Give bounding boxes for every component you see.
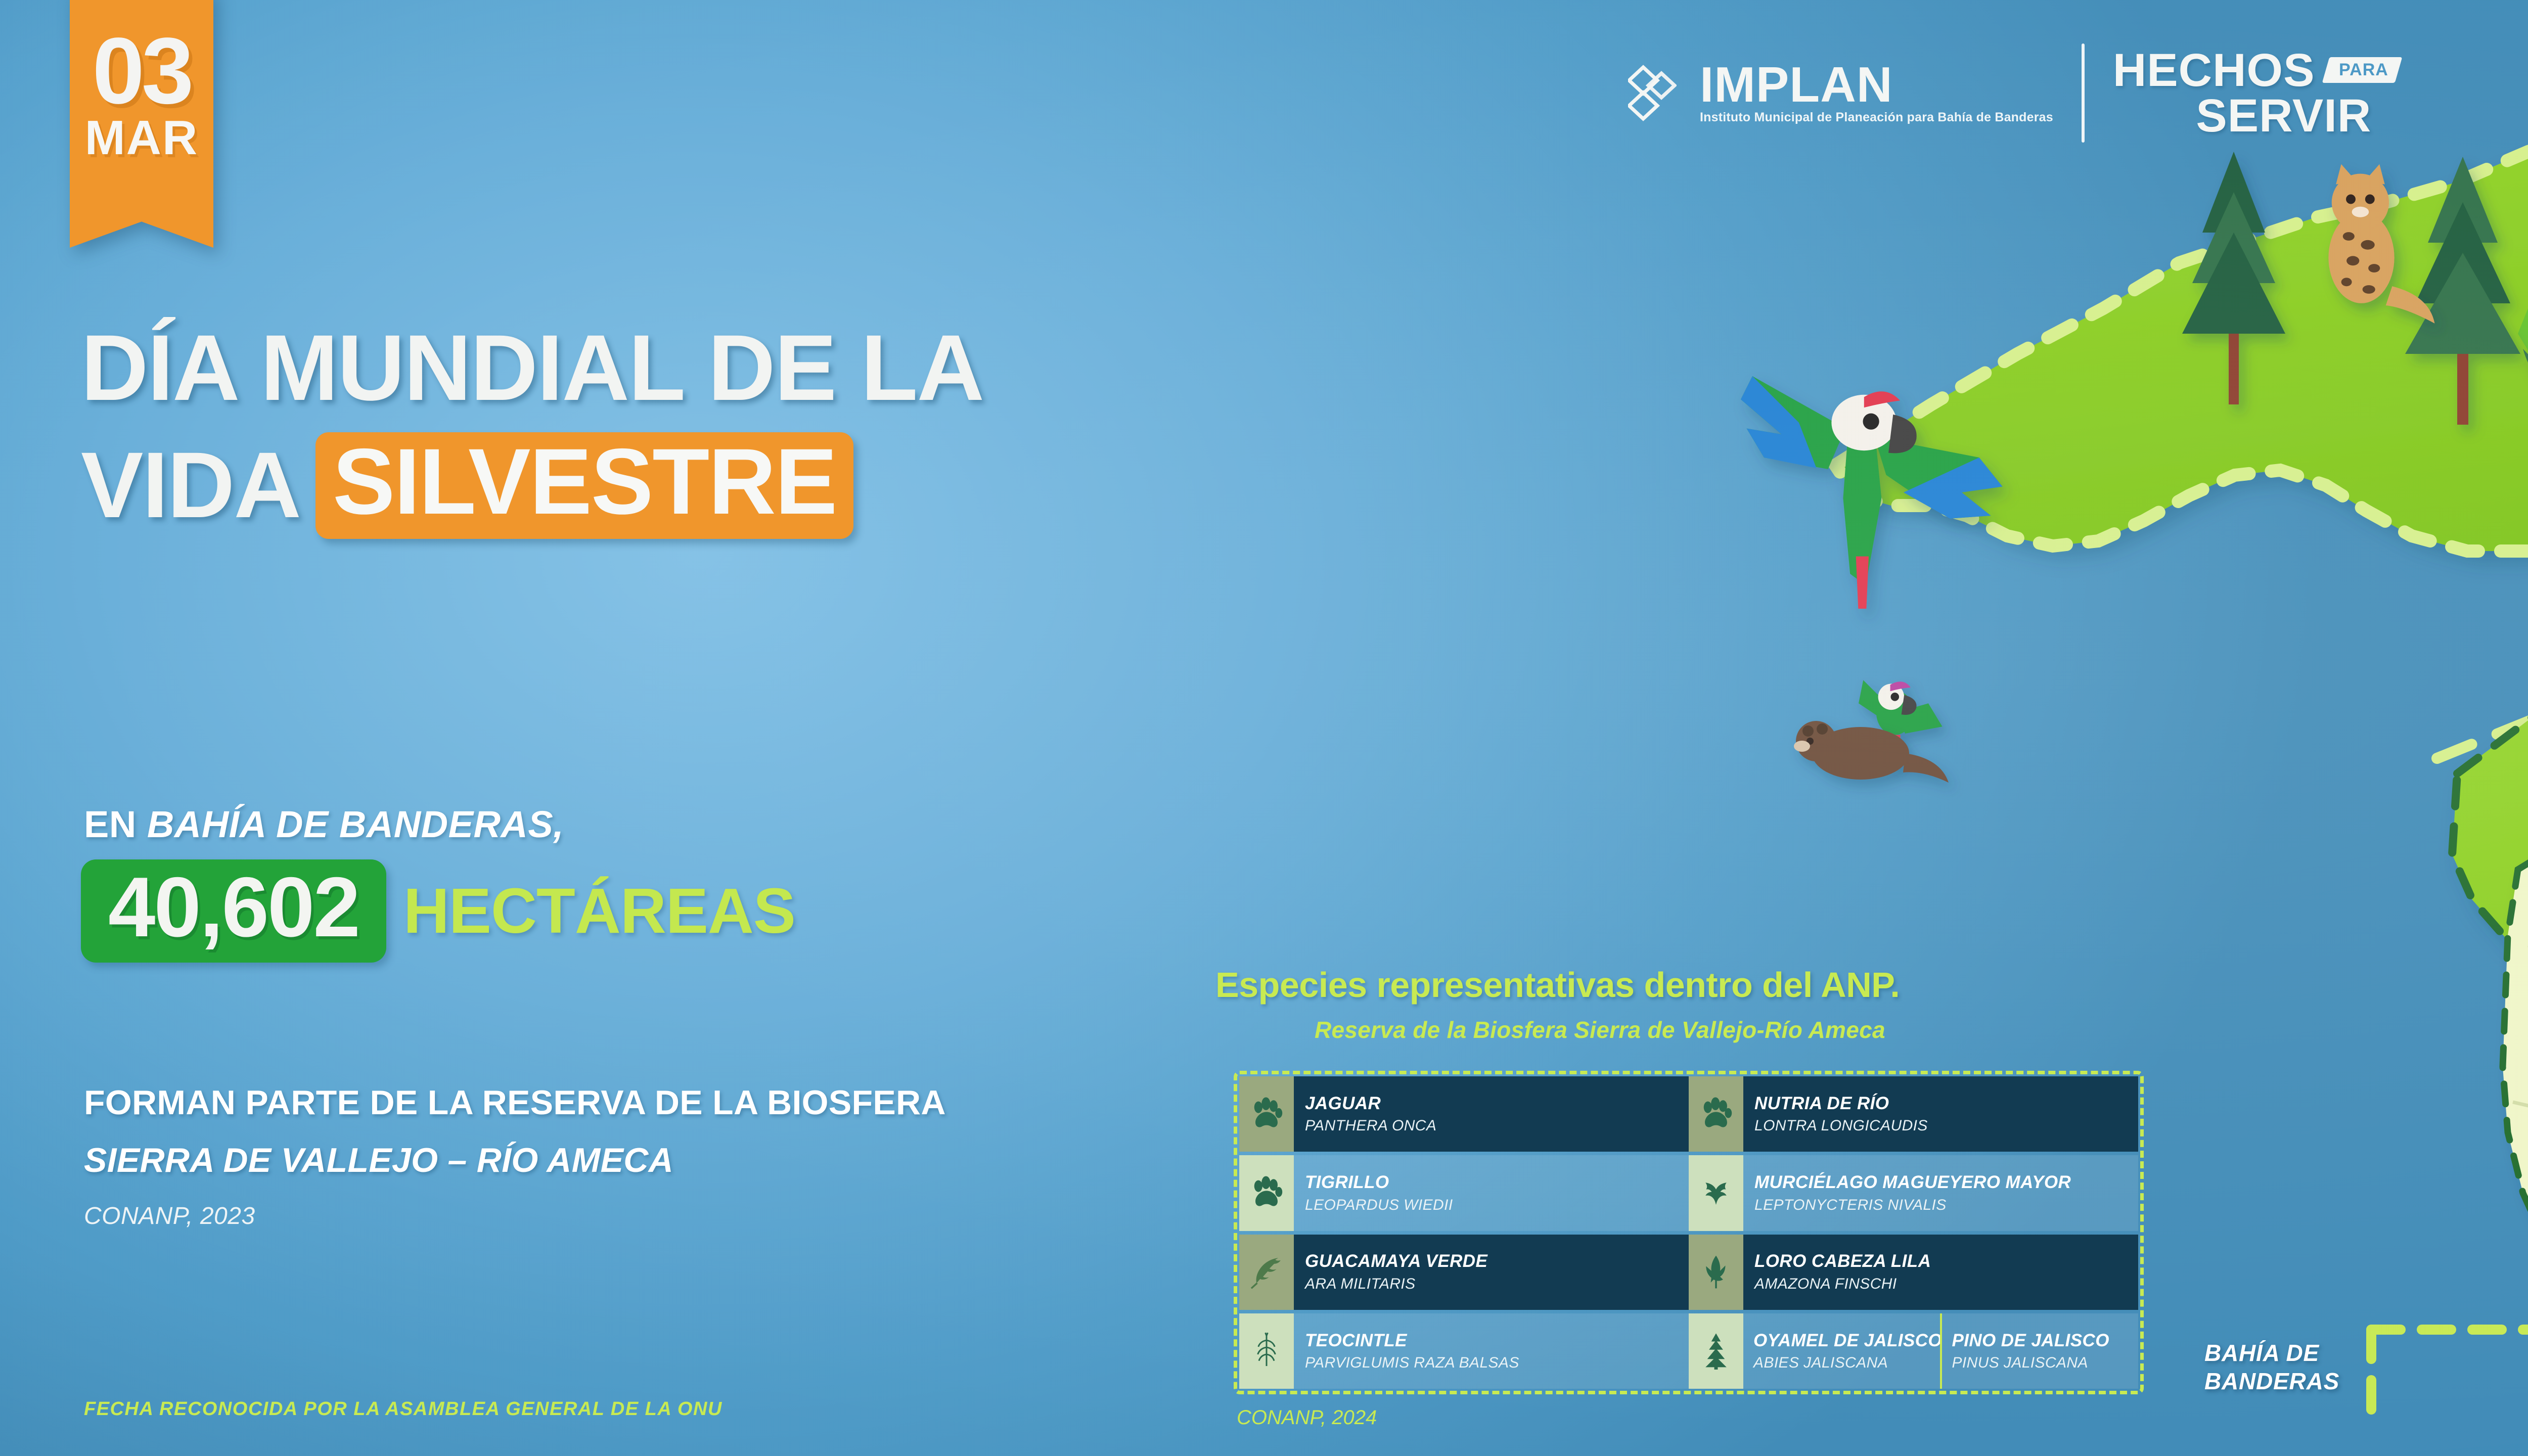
feather-icon [1689, 1235, 1743, 1310]
footnote-text: FECHA RECONOCIDA POR LA ASAMBLEA GENERAL… [84, 1398, 723, 1420]
species-common-name: PINO DE JALISCO [1952, 1331, 2139, 1351]
species-common-name: GUACAMAYA VERDE [1305, 1252, 1689, 1271]
slogan-para-badge: PARA [2322, 57, 2402, 83]
bahia-callout-bracket [2371, 1330, 2528, 1456]
bat-icon [1689, 1155, 1743, 1231]
date-badge: 03 MAR [70, 0, 213, 205]
species-cell[interactable]: TEOCINTLE PARVIGLUMIS RAZA BALSAS [1239, 1313, 1689, 1389]
species-text: NUTRIA DE RÍO LONTRA LONGICAUDIS [1743, 1076, 2138, 1152]
species-scientific-name: AMAZONA FINSCHI [1754, 1276, 2138, 1292]
slogan-para-text: PARA [2339, 60, 2388, 80]
species-panel-source: CONANP, 2024 [1237, 1406, 1377, 1429]
species-scientific-name: LEPTONYCTERIS NIVALIS [1754, 1197, 2138, 1213]
stat-intro-prefix: EN [84, 803, 147, 845]
species-cell[interactable]: GUACAMAYA VERDE ARA MILITARIS [1239, 1235, 1689, 1310]
infographic-canvas: 03 MAR DÍA MUNDIAL DE LA VIDA SILVESTRE … [0, 0, 2528, 1456]
slogan-hechos: HECHOS [2113, 48, 2315, 93]
species-common-name: TIGRILLO [1305, 1173, 1689, 1193]
paw-print-icon [1239, 1155, 1294, 1231]
species-common-name: TEOCINTLE [1305, 1331, 1689, 1351]
species-text: GUACAMAYA VERDE ARA MILITARIS [1294, 1235, 1689, 1310]
page-title: DÍA MUNDIAL DE LA VIDA SILVESTRE [81, 322, 983, 539]
species-scientific-name: ABIES JALISCANA [1753, 1354, 1940, 1371]
paw-print-icon [1239, 1076, 1294, 1152]
stats-source: CONANP, 2023 [84, 1202, 255, 1230]
species-scientific-name: PANTHERA ONCA [1305, 1117, 1689, 1134]
map-label-bahia-de-banderas: BAHÍA DE BANDERAS [2204, 1339, 2339, 1395]
species-text: LORO CABEZA LILA AMAZONA FINSCHI [1743, 1235, 2138, 1310]
species-common-name: MURCIÉLAGO MAGUEYERO MAYOR [1754, 1173, 2138, 1193]
implan-tagline: Instituto Municipal de Planeación para B… [1700, 110, 2053, 125]
hectares-value: 40,602 [108, 864, 359, 949]
headline-line-1: DÍA MUNDIAL DE LA [81, 322, 983, 415]
hectares-value-box: 40,602 [81, 859, 386, 963]
species-text[interactable]: PINO DE JALISCO PINUS JALISCANA [1940, 1313, 2139, 1389]
implan-name: IMPLAN [1700, 61, 2053, 108]
implan-logo-icon [1628, 63, 1677, 123]
species-common-name: OYAMEL DE JALISCO [1753, 1331, 1940, 1351]
table-row: TEOCINTLE PARVIGLUMIS RAZA BALSAS OYAMEL… [1239, 1313, 2138, 1389]
implan-logo-text: IMPLAN Instituto Municipal de Planeación… [1700, 61, 2053, 124]
species-table: JAGUAR PANTHERA ONCA NUTRIA DE RÍO LONTR… [1234, 1071, 2144, 1394]
brand-divider [2082, 43, 2085, 143]
otter-illustration [1794, 721, 1949, 783]
species-scientific-name: LONTRA LONGICAUDIS [1754, 1117, 2138, 1134]
species-panel-subtitle: Reserva de la Biosfera Sierra de Vallejo… [1315, 1016, 1885, 1043]
date-day: 03 [93, 31, 191, 112]
species-panel-title: Especies representativas dentro del ANP. [1215, 965, 1900, 1005]
slogan-row-1: HECHOS PARA [2113, 48, 2399, 93]
stat-intro-place: BAHÍA DE BANDERAS, [147, 803, 564, 845]
table-row: TIGRILLO LEOPARDUS WIEDII MURCIÉLAGO MAG… [1239, 1155, 2138, 1231]
table-row: JAGUAR PANTHERA ONCA NUTRIA DE RÍO LONTR… [1239, 1076, 2138, 1152]
feather-icon [1239, 1235, 1294, 1310]
species-scientific-name: PARVIGLUMIS RAZA BALSAS [1305, 1354, 1689, 1371]
map-label-line-1: BAHÍA DE [2204, 1339, 2339, 1367]
reserve-line-2: SIERRA DE VALLEJO – RÍO AMECA [84, 1141, 673, 1180]
species-common-name: LORO CABEZA LILA [1754, 1252, 2138, 1271]
species-text: JAGUAR PANTHERA ONCA [1294, 1076, 1689, 1152]
paw-print-icon [1689, 1076, 1743, 1152]
species-scientific-name: ARA MILITARIS [1305, 1276, 1689, 1292]
species-scientific-name: PINUS JALISCANA [1952, 1354, 2139, 1371]
reserve-line-1: FORMAN PARTE DE LA RESERVA DE LA BIOSFER… [84, 1083, 946, 1122]
species-scientific-name: LEOPARDUS WIEDII [1305, 1197, 1689, 1213]
table-row: GUACAMAYA VERDE ARA MILITARIS LORO CABEZ… [1239, 1235, 2138, 1310]
headline-silvestre-highlight: SILVESTRE [315, 432, 853, 539]
slogan-servir: SERVIR [2196, 93, 2371, 139]
species-cell[interactable]: OYAMEL DE JALISCO ABIES JALISCANA PINO D… [1689, 1313, 2138, 1389]
species-common-name: JAGUAR [1305, 1094, 1689, 1114]
species-text: MURCIÉLAGO MAGUEYERO MAYOR LEPTONYCTERIS… [1743, 1155, 2138, 1231]
brand-slogan: HECHOS PARA SERVIR [2113, 48, 2399, 139]
brand-header: IMPLAN Instituto Municipal de Planeación… [1628, 43, 2399, 143]
species-split-cell: OYAMEL DE JALISCO ABIES JALISCANA PINO D… [1743, 1313, 2138, 1389]
species-text: TIGRILLO LEOPARDUS WIEDII [1294, 1155, 1689, 1231]
hectares-label: HECTÁREAS [403, 879, 795, 943]
headline-vida: VIDA [81, 439, 300, 532]
corn-plant-icon [1239, 1313, 1294, 1389]
headline-line-2: VIDA SILVESTRE [81, 432, 983, 539]
map-label-line-2: BANDERAS [2204, 1367, 2339, 1395]
species-common-name: NUTRIA DE RÍO [1754, 1094, 2138, 1114]
species-text[interactable]: OYAMEL DE JALISCO ABIES JALISCANA [1743, 1313, 1940, 1389]
species-cell[interactable]: JAGUAR PANTHERA ONCA [1239, 1076, 1689, 1152]
species-text: TEOCINTLE PARVIGLUMIS RAZA BALSAS [1294, 1313, 1689, 1389]
species-cell[interactable]: TIGRILLO LEOPARDUS WIEDII [1239, 1155, 1689, 1231]
stat-intro-line: EN BAHÍA DE BANDERAS, [84, 803, 564, 846]
species-cell[interactable]: MURCIÉLAGO MAGUEYERO MAYOR LEPTONYCTERIS… [1689, 1155, 2138, 1231]
date-month: MAR [85, 114, 199, 162]
conifer-tree-icon [1689, 1313, 1743, 1389]
species-cell[interactable]: LORO CABEZA LILA AMAZONA FINSCHI [1689, 1235, 2138, 1310]
hectares-row: 40,602 HECTÁREAS [81, 859, 795, 963]
species-cell[interactable]: NUTRIA DE RÍO LONTRA LONGICAUDIS [1689, 1076, 2138, 1152]
